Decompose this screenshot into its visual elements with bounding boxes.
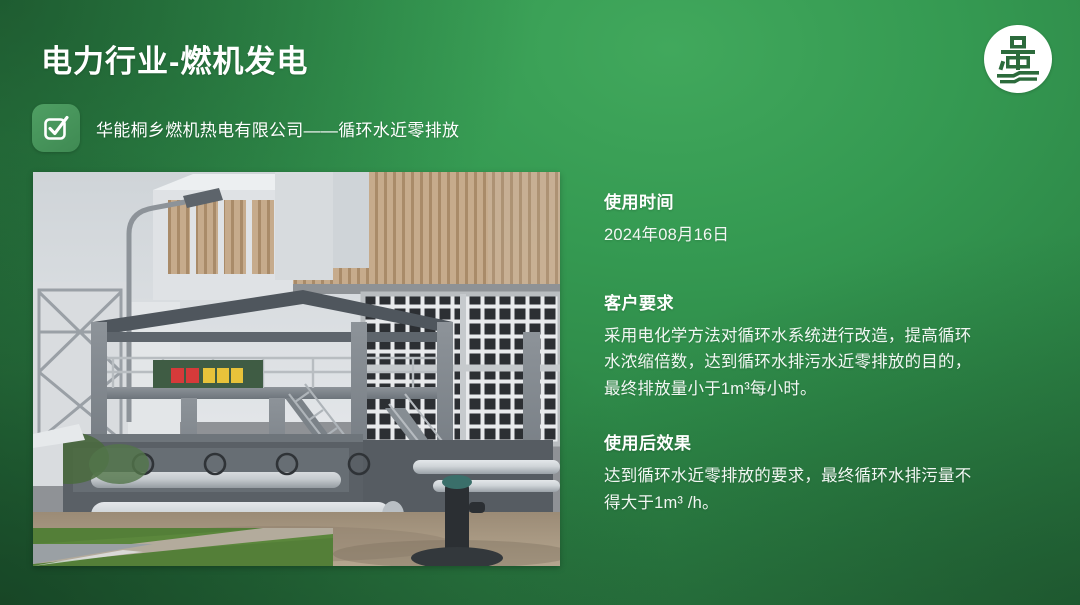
page-title: 电力行业-燃机发电 [41, 36, 308, 81]
company-logo-icon [984, 25, 1052, 93]
site-photo-illustration [33, 172, 560, 566]
spacer [604, 275, 974, 289]
subtitle-label: 华能桐乡燃机热电有限公司——循环水近零排放 [96, 116, 459, 141]
info-heading: 使用后效果 [604, 429, 974, 454]
info-block-customer-requirement: 客户要求 采用电化学方法对循环水系统进行改造，提高循环水浓缩倍数，达到循环水排污… [604, 289, 974, 403]
logo-glyph-icon [988, 29, 1048, 89]
info-body: 2024年08月16日 [604, 222, 974, 249]
info-block-usage-time: 使用时间 2024年08月16日 [604, 188, 974, 249]
slide-root: 电力行业-燃机发电 [0, 0, 1080, 605]
checkbox-checked-icon [32, 104, 80, 152]
subtitle-row: 华能桐乡燃机热电有限公司——循环水近零排放 [32, 104, 459, 152]
info-heading: 使用时间 [604, 188, 974, 213]
site-photo [33, 172, 560, 566]
info-body: 达到循环水近零排放的要求，最终循环水排污量不得大于1m³ /h。 [604, 463, 974, 516]
info-block-effect: 使用后效果 达到循环水近零排放的要求，最终循环水排污量不得大于1m³ /h。 [604, 429, 974, 516]
info-panel: 使用时间 2024年08月16日 客户要求 采用电化学方法对循环水系统进行改造，… [604, 188, 974, 516]
info-body: 采用电化学方法对循环水系统进行改造，提高循环水浓缩倍数，达到循环水排污水近零排放… [604, 323, 974, 403]
info-heading: 客户要求 [604, 289, 974, 314]
check-glyph-icon [40, 112, 72, 144]
